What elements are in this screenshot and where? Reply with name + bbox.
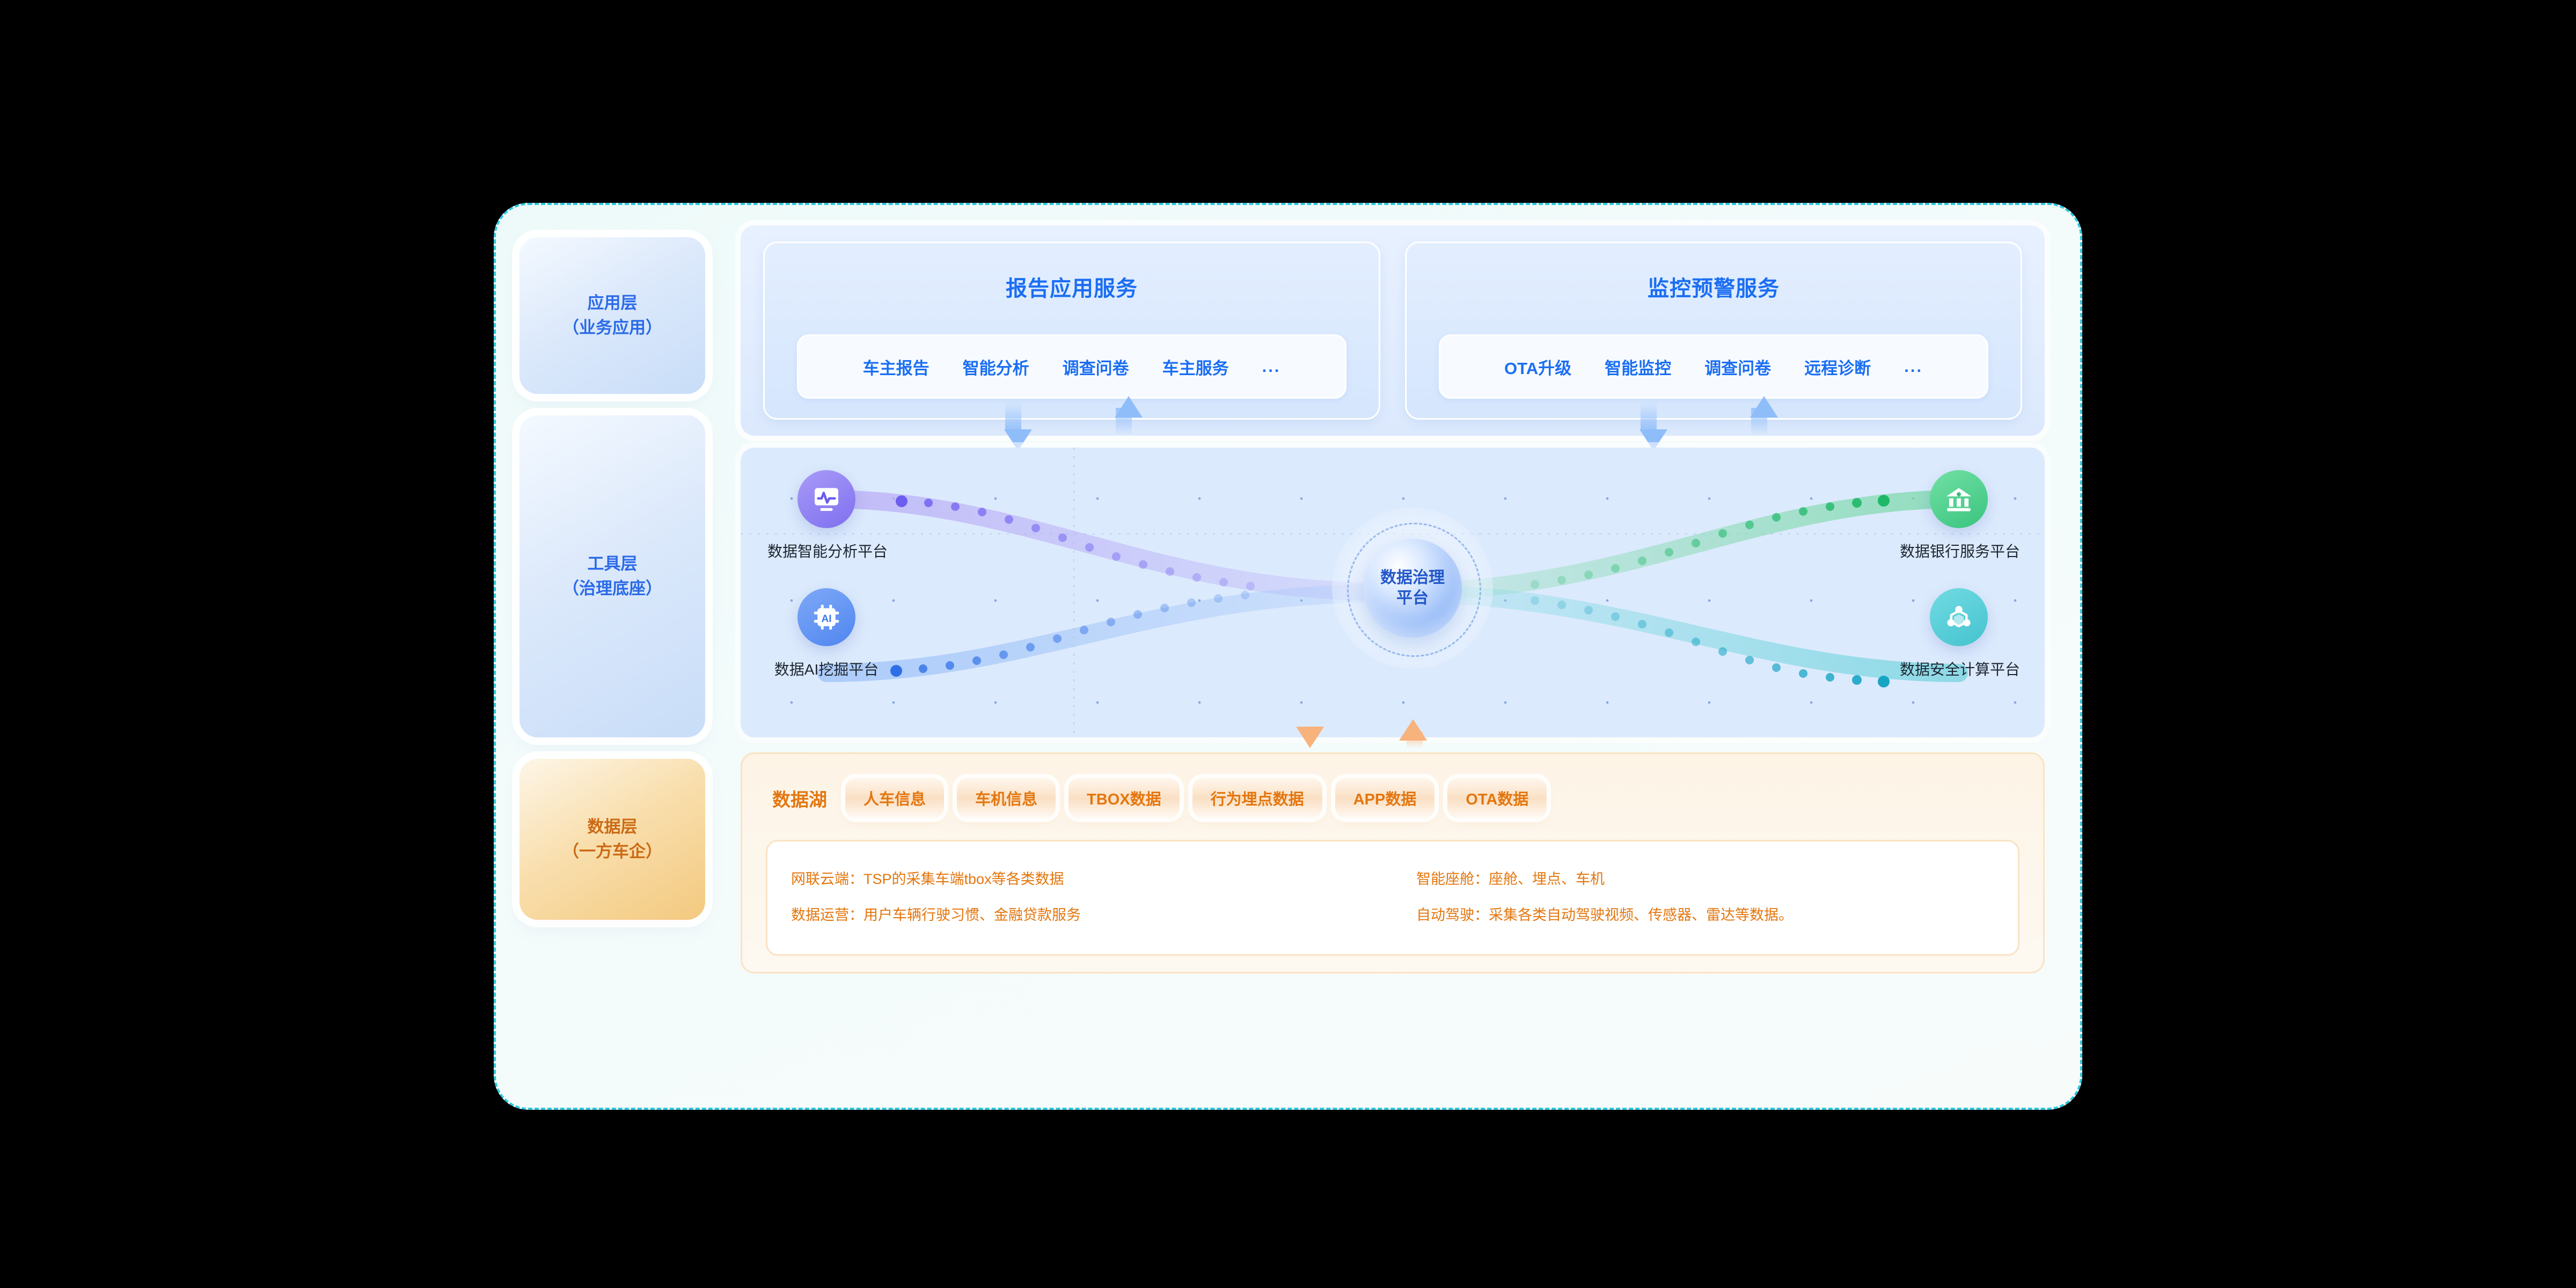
hub-label-line2: 平台	[1396, 589, 1429, 607]
rail-application-layer: 应用层 （业务应用）	[519, 237, 705, 394]
data-layer-description-box: 网联云端：TSP的采集车端tbox等各类数据 数据运营：用户车辆行驶习惯、金融贷…	[766, 840, 2019, 956]
node-label-security: 数据安全计算平台	[1900, 658, 2018, 679]
pill-person-vehicle-info[interactable]: 人车信息	[845, 778, 944, 818]
tag-remote-diagnosis[interactable]: 远程诊断	[1804, 355, 1871, 379]
desc-autonomous-driving: 自动驾驶：采集各类自动驾驶视频、传感器、雷达等数据。	[1416, 903, 2018, 924]
node-label-bank: 数据银行服务平台	[1900, 540, 2018, 561]
node-label-ai: 数据AI挖掘平台	[767, 658, 885, 679]
arrow-up-right-1	[1750, 396, 1778, 418]
monitor-waveform-icon	[797, 470, 855, 528]
arrow-up-data	[1399, 719, 1427, 741]
pill-app-data[interactable]: APP数据	[1335, 778, 1435, 818]
pill-behavior-tracking-data[interactable]: 行为埋点数据	[1192, 778, 1322, 818]
tag-smart-analysis[interactable]: 智能分析	[963, 355, 1029, 379]
tag-owner-report[interactable]: 车主报告	[863, 355, 930, 379]
desc-data-operations: 数据运营：用户车辆行驶习惯、金融贷款服务	[791, 903, 1393, 924]
tag-owner-service[interactable]: 车主服务	[1162, 355, 1229, 379]
node-data-intelligent-analysis-platform[interactable]: 数据智能分析平台	[767, 470, 885, 561]
tag-smart-monitoring[interactable]: 智能监控	[1605, 355, 1671, 379]
rail-data-layer-line2: （一方车企）	[562, 839, 662, 865]
data-layer-band: 数据湖 人车信息 车机信息 TBOX数据 行为埋点数据 APP数据 OTA数据 …	[741, 752, 2045, 974]
description-column-left: 网联云端：TSP的采集车端tbox等各类数据 数据运营：用户车辆行驶习惯、金融贷…	[767, 841, 1393, 954]
tag-more-report[interactable]: ...	[1262, 357, 1281, 376]
service-card-monitoring-title: 监控预警服务	[1407, 271, 2021, 302]
service-card-report-title: 报告应用服务	[765, 271, 1379, 302]
arrow-stem-down-right	[1641, 402, 1657, 429]
data-lake-row: 数据湖 人车信息 车机信息 TBOX数据 行为埋点数据 APP数据 OTA数据	[772, 770, 2022, 826]
svg-text:AI: AI	[821, 613, 831, 625]
tag-questionnaire-2[interactable]: 调查问卷	[1704, 355, 1771, 379]
tag-questionnaire[interactable]: 调查问卷	[1063, 355, 1129, 379]
hub-label: 数据治理 平台	[1380, 568, 1445, 609]
tool-layer-band: 数据治理 平台 数据智能分析平台	[741, 448, 2045, 737]
hub-label-line1: 数据治理	[1380, 569, 1445, 587]
data-lake-label: 数据湖	[772, 785, 827, 811]
rail-data-layer: 数据层 （一方车企）	[519, 759, 705, 920]
arrow-up-left-1	[1115, 396, 1143, 418]
rail-application-layer-line2: （业务应用）	[562, 316, 662, 341]
desc-connected-cloud: 网联云端：TSP的采集车端tbox等各类数据	[791, 867, 1393, 888]
tag-ota-upgrade[interactable]: OTA升级	[1504, 355, 1571, 379]
rail-tool-layer-line2: （治理底座）	[562, 576, 662, 602]
hub-sphere: 数据治理 平台	[1363, 539, 1462, 638]
rail-application-layer-line1: 应用层	[588, 291, 638, 316]
service-card-report-tags: 车主报告 智能分析 调查问卷 车主服务 ...	[797, 334, 1346, 399]
rail-tool-layer: 工具层 （治理底座）	[519, 415, 705, 737]
arrow-stem-down-left	[1005, 402, 1021, 429]
diagram-frame: 应用层 （业务应用） 工具层 （治理底座） 数据层 （一方车企） 报告应用服务 …	[494, 203, 2082, 1110]
bank-building-icon	[1930, 470, 1988, 528]
pill-vehicle-machine-info[interactable]: 车机信息	[957, 778, 1056, 818]
arrow-down-data	[1296, 727, 1324, 748]
service-card-report[interactable]: 报告应用服务 车主报告 智能分析 调查问卷 车主服务 ...	[763, 241, 1380, 420]
rail-data-layer-line1: 数据层	[588, 815, 638, 840]
node-data-bank-service-platform[interactable]: 数据银行服务平台	[1900, 470, 2018, 561]
pill-ota-data[interactable]: OTA数据	[1447, 778, 1547, 818]
node-data-security-computing-platform[interactable]: 数据安全计算平台	[1900, 588, 2018, 679]
ai-chip-icon: AI	[797, 588, 855, 646]
node-data-ai-mining-platform[interactable]: AI 数据AI挖掘平台	[767, 588, 885, 679]
application-layer-band: 报告应用服务 车主报告 智能分析 调查问卷 车主服务 ... 监控预警服务 OT…	[741, 225, 2045, 436]
rail-tool-layer-line1: 工具层	[588, 552, 638, 577]
service-card-monitoring[interactable]: 监控预警服务 OTA升级 智能监控 调查问卷 远程诊断 ...	[1405, 241, 2022, 420]
service-card-monitoring-tags: OTA升级 智能监控 调查问卷 远程诊断 ...	[1439, 334, 1988, 399]
tag-more-monitoring[interactable]: ...	[1904, 357, 1923, 376]
description-column-right: 智能座舱：座舱、埋点、车机 自动驾驶：采集各类自动驾驶视频、传感器、雷达等数据。	[1393, 841, 2018, 954]
data-governance-hub[interactable]: 数据治理 平台	[1332, 508, 1493, 669]
pill-tbox-data[interactable]: TBOX数据	[1069, 778, 1180, 818]
desc-smart-cockpit: 智能座舱：座舱、埋点、车机	[1416, 867, 2018, 888]
node-label-analysis: 数据智能分析平台	[767, 540, 885, 561]
shield-network-icon	[1930, 588, 1988, 646]
